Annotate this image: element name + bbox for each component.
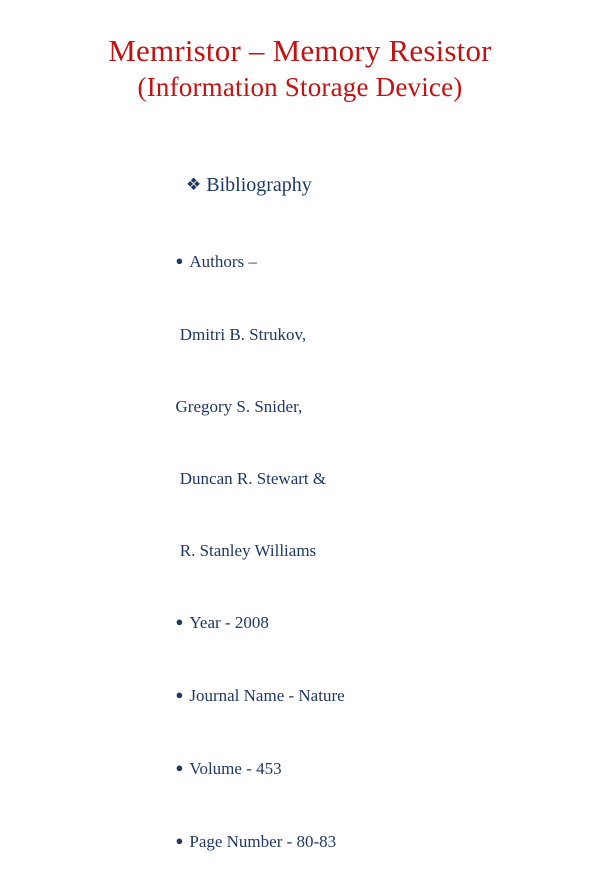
list-item: Gregory S. Snider, xyxy=(150,371,530,443)
list-item-label: Duncan R. Stewart & xyxy=(176,469,327,488)
list-item: R. Stanley Williams xyxy=(150,515,530,587)
diamond-bullet-icon: ❖ xyxy=(186,171,201,198)
title-line-subtitle: (Information Storage Device) xyxy=(0,70,600,104)
slide-title: Memristor – Memory Resistor (Information… xyxy=(0,32,600,104)
bibliography-block: ❖Bibliography ●Authors – Dmitri B. Struk… xyxy=(150,145,530,879)
list-item: ●Volume - 453 xyxy=(150,733,530,806)
list-item-label: Journal Name - Nature xyxy=(189,686,344,705)
list-item: ●Year - 2008 xyxy=(150,587,530,660)
round-bullet-icon: ● xyxy=(176,756,184,780)
list-item: Dmitri B. Strukov, xyxy=(150,299,530,371)
title-line-primary: Memristor – Memory Resistor xyxy=(0,32,600,70)
bibliography-heading-label: Bibliography xyxy=(206,174,312,196)
list-item-label: Authors – xyxy=(189,252,257,271)
list-item-label: R. Stanley Williams xyxy=(176,541,317,560)
list-item: ●Page Number - 80-83 xyxy=(150,806,530,879)
list-item-label: Page Number - 80-83 xyxy=(189,832,336,851)
list-item: ●Authors – xyxy=(150,226,530,299)
list-item-label: Dmitri B. Strukov, xyxy=(176,325,307,344)
list-item-label: Volume - 453 xyxy=(189,759,281,778)
presentation-slide: Memristor – Memory Resistor (Information… xyxy=(0,0,600,450)
list-item: Duncan R. Stewart & xyxy=(150,443,530,515)
round-bullet-icon: ● xyxy=(176,249,184,273)
round-bullet-icon: ● xyxy=(176,683,184,707)
round-bullet-icon: ● xyxy=(176,829,184,853)
list-item-label: Year - 2008 xyxy=(189,613,269,632)
list-item-label: Gregory S. Snider, xyxy=(176,397,303,416)
round-bullet-icon: ● xyxy=(176,610,184,634)
bibliography-heading: ❖Bibliography xyxy=(150,145,530,226)
list-item: ●Journal Name - Nature xyxy=(150,660,530,733)
